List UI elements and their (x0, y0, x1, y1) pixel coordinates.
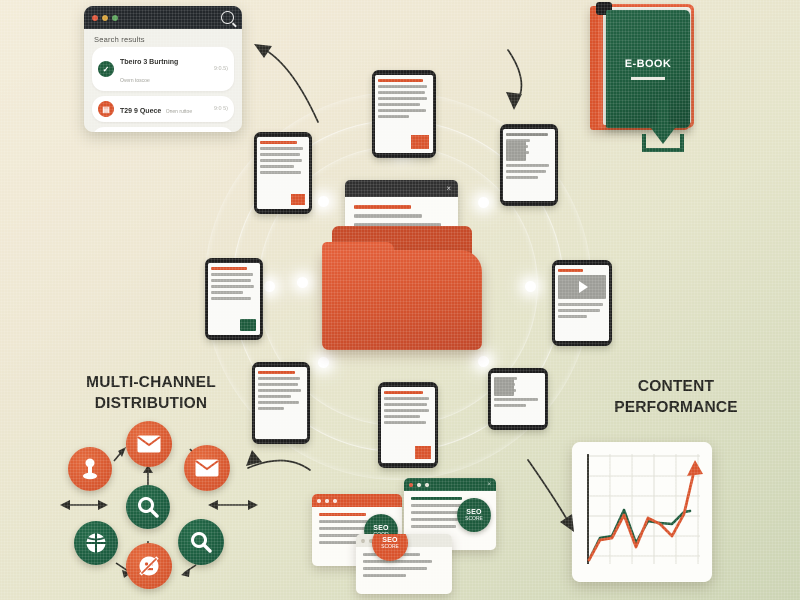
badge-subtitle: SCORE (381, 544, 399, 550)
seo-window-white[interactable]: SEO SCORE (356, 534, 452, 594)
performance-chart-card[interactable] (572, 442, 712, 582)
channel-node-blocked[interactable] (126, 543, 172, 589)
arrowhead-search (254, 44, 272, 58)
arrow-to-ebook (508, 50, 521, 104)
envelope-icon (195, 459, 219, 477)
maximize-dot[interactable] (425, 483, 429, 487)
orbit-node (264, 281, 275, 292)
badge-title: SEO (466, 509, 481, 516)
maximize-dot[interactable] (333, 499, 337, 503)
chart-series-primary (589, 467, 695, 560)
magnifier-icon (137, 496, 159, 518)
close-dot[interactable] (317, 499, 321, 503)
search-results-window[interactable]: Search results ✓ Tbeiro 3 Burtning Overn… (84, 6, 242, 132)
badge-subtitle: SCORE (465, 516, 483, 522)
label-line-1: MULTI-CHANNEL (66, 372, 236, 393)
central-content-hub[interactable]: × (300, 170, 500, 375)
window-titlebar: × (404, 478, 496, 491)
channel-node-globe[interactable] (74, 521, 118, 565)
magnifier-icon (190, 531, 212, 553)
channel-node-search-center[interactable] (126, 485, 170, 529)
list-item[interactable]: ▤ T29 9 Quece Onen ruttoe 9:0 5) (92, 96, 234, 122)
close-dot[interactable] (361, 539, 365, 543)
channel-node-email-top[interactable] (126, 421, 172, 467)
badge-title: SEO (382, 537, 397, 544)
minimize-dot[interactable] (417, 483, 421, 487)
label-line-2: PERFORMANCE (586, 397, 766, 418)
download-arrow-icon[interactable] (640, 100, 686, 152)
check-badge-icon: ✓ (98, 61, 114, 77)
no-entry-icon (137, 554, 161, 578)
multi-channel-cluster (60, 415, 265, 600)
list-item[interactable]: ▤ 1900 3 Ouery Osoutoend 9:0 5) (92, 127, 234, 132)
channel-node-email-right[interactable] (184, 445, 230, 491)
window-titlebar (84, 6, 242, 29)
close-icon[interactable]: × (487, 482, 491, 488)
chart-gridlines (588, 454, 700, 564)
document-titlebar: × (345, 180, 458, 197)
ebook-graphic: E-BOOK (590, 4, 705, 154)
badge-title: SEO (373, 525, 388, 532)
list-item-subtitle: Overn toscoe (120, 78, 150, 84)
pin-icon (80, 458, 100, 480)
device-tablet-right-video[interactable] (552, 260, 612, 346)
list-item-title: T29 9 Quece (120, 108, 161, 115)
orbit-node (525, 281, 536, 292)
list-item[interactable]: ✓ Tbeiro 3 Burtning Overn toscoe 9:0.5) (92, 47, 234, 91)
open-folder-icon[interactable] (322, 250, 482, 350)
close-icon[interactable]: × (446, 185, 451, 193)
document-icon: ▤ (98, 101, 114, 117)
device-tablet-left-mid[interactable] (205, 258, 263, 340)
list-item-subtitle: Onen ruttoe (166, 109, 192, 115)
search-icon[interactable] (221, 11, 234, 24)
device-tablet-right-lower[interactable] (488, 368, 548, 430)
search-results-title: Search results (84, 29, 242, 47)
window-titlebar (312, 494, 402, 507)
chart-arrow-head (687, 460, 703, 476)
arrow-to-search-window (258, 46, 318, 122)
close-dot[interactable] (92, 15, 98, 21)
close-dot[interactable] (409, 483, 413, 487)
page-title-distribution: MULTI-CHANNEL DISTRIBUTION (66, 372, 236, 414)
device-tablet-top[interactable] (372, 70, 436, 158)
list-item-meta: 9:0.5) (214, 66, 228, 72)
maximize-dot[interactable] (112, 15, 118, 21)
traffic-lights (92, 15, 118, 21)
arrow-to-performance (528, 460, 572, 528)
envelope-icon (137, 435, 161, 453)
page-title-performance: CONTENT PERFORMANCE (586, 376, 766, 418)
status-badge: SEO SCORE (372, 534, 408, 561)
infographic-canvas: Search results ✓ Tbeiro 3 Burtning Overn… (0, 0, 800, 600)
status-badge: SEO SCORE (457, 498, 491, 532)
minimize-dot[interactable] (102, 15, 108, 21)
channel-node-profile[interactable] (68, 447, 112, 491)
device-tablet-bottom[interactable] (378, 382, 438, 468)
label-line-1: CONTENT (586, 376, 766, 397)
line-chart (572, 442, 712, 582)
device-tablet-top-right[interactable] (500, 124, 558, 206)
play-icon[interactable] (579, 281, 588, 293)
label-line-2: DISTRIBUTION (66, 393, 236, 414)
channel-node-search-right[interactable] (178, 519, 224, 565)
list-item-meta: 9:0 5) (214, 106, 228, 112)
ebook-label: E-BOOK (625, 58, 671, 70)
list-item-title: Tbeiro 3 Burtning (120, 59, 178, 66)
globe-icon (85, 532, 107, 554)
arrowhead-ebook (506, 92, 522, 110)
ebook-rule (631, 77, 665, 80)
minimize-dot[interactable] (325, 499, 329, 503)
